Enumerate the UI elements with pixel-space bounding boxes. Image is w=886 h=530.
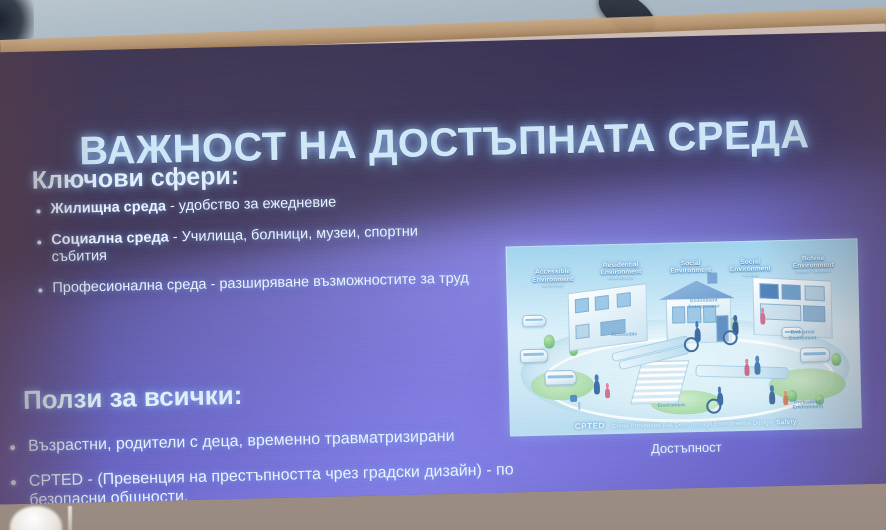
bullet-lead: Социална среда — [51, 229, 169, 248]
window — [574, 297, 589, 313]
bullet-list-benefits: Възрастни, родители с деца, временно тра… — [8, 425, 550, 505]
list-item: Професионална среда - разширяване възмож… — [36, 270, 476, 298]
projection-screen: ВАЖНОСТ НА ДОСТЪПНАТА СРЕДА Ключови сфер… — [0, 31, 886, 504]
tree-icon — [544, 335, 555, 349]
list-item: Жилищна среда - удобство за ежедневие — [34, 191, 474, 219]
presentation-photo: ВАЖНОСТ НА ДОСТЪПНАТА СРЕДА Ключови сфер… — [0, 0, 886, 530]
person-figure — [594, 381, 600, 395]
cpted-acronym: CPTED — [575, 421, 605, 431]
window — [804, 284, 825, 300]
window — [803, 305, 825, 323]
cpted-expansion: Crime Prevention thia Desi: through Envi… — [612, 420, 772, 430]
child-figure — [604, 388, 609, 398]
bullet-rest: Професионална среда - разширяване възмож… — [52, 270, 469, 296]
vehicle — [799, 347, 829, 363]
microphone-stand — [68, 506, 72, 530]
vehicle — [519, 348, 547, 363]
foreground-head — [10, 506, 62, 530]
inner-label-endosteal: Endosteal Enviroment — [761, 330, 845, 343]
vehicle — [544, 370, 576, 386]
window — [781, 283, 800, 299]
window — [760, 303, 801, 322]
zone-label-bofese: Bofese Environment Inward Transform — [773, 247, 854, 283]
bullet-list-key-areas: Жилищна среда - удобство за ежедневие Со… — [34, 191, 476, 311]
accessible-environment-illustration: Accessible Environment Accessible Reside… — [506, 238, 862, 436]
bullet-rest: Възрастни, родители с деца, временно тра… — [28, 428, 455, 455]
accessibility-sign-icon — [570, 394, 577, 401]
zone-label-residential: Residential Environment Environment — [580, 253, 661, 289]
inner-label-professional: Profesional Environment — [769, 399, 846, 412]
vehicle — [522, 314, 546, 327]
window — [616, 292, 631, 308]
section-heading-benefits: Ползи за всички: — [23, 380, 243, 416]
person-figure — [744, 364, 749, 376]
tree-icon — [831, 352, 841, 365]
illustration-caption: Достъпност — [510, 436, 862, 459]
window — [594, 295, 609, 311]
sign-post — [578, 402, 580, 410]
list-item: Социална среда - Училища, болници, музеи… — [35, 222, 476, 268]
person-figure — [754, 362, 760, 375]
cpted-tail: Safety — [776, 419, 797, 426]
slide-content: ВАЖНОСТ НА ДОСТЪПНАТА СРЕДА Ключови сфер… — [0, 31, 886, 504]
bullet-lead: Жилищна среда — [50, 199, 166, 218]
inner-label-entrepreneur: Enviroment Entrepreneur — [672, 299, 735, 311]
list-item: Възрастни, родители с деца, временно тра… — [8, 425, 548, 457]
section-heading-key-areas: Ключови сфери: — [31, 162, 239, 196]
illustration-container: Accessible Environment Accessible Reside… — [506, 238, 862, 436]
bullet-rest: - удобство за ежедневие — [166, 194, 337, 214]
person-figure — [760, 313, 765, 325]
